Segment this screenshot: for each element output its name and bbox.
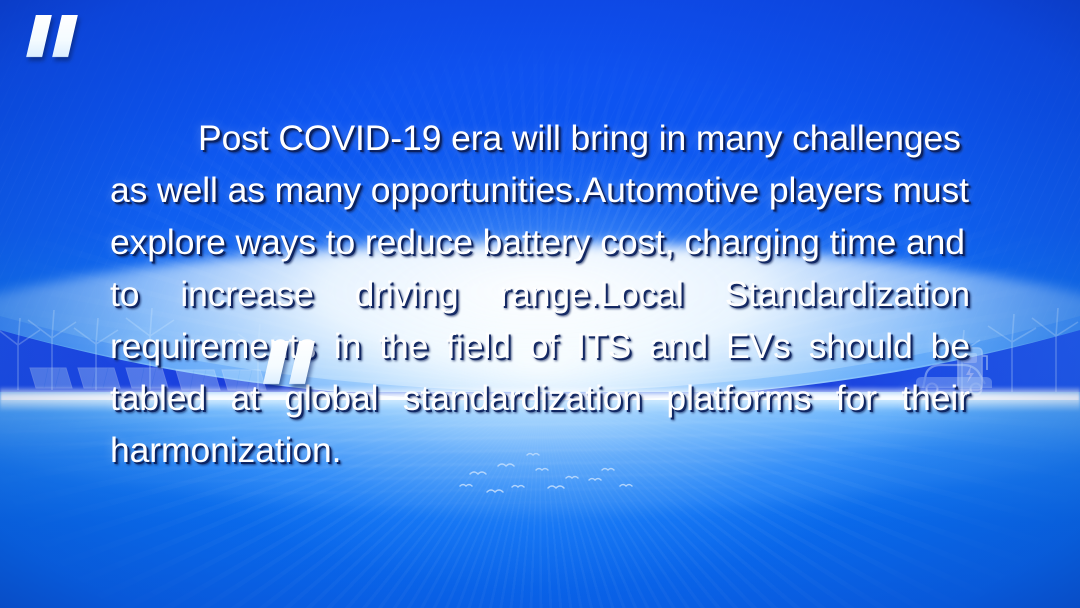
quote-line-1: Post COVID-19 era will bring in many cha… (110, 112, 970, 164)
quote-line-4: toincreasedrivingrange.LocalStandardizat… (110, 268, 970, 320)
quote-word: in (334, 320, 361, 372)
quote-line-7: harmonization. (110, 424, 970, 476)
quote-word: their (901, 372, 970, 424)
quote-close-mark-icon (268, 341, 310, 389)
quote-word: field (446, 320, 511, 372)
quote-word: for (836, 372, 877, 424)
quote-open-mark-icon (31, 15, 73, 62)
quote-word: and (649, 320, 708, 372)
quote-line-3: explore ways to reduce battery cost, cha… (110, 216, 970, 268)
quote-word: at (230, 372, 259, 424)
quote-word: driving (355, 268, 459, 320)
quote-slide: Post COVID-19 era will bring in many cha… (0, 0, 1080, 608)
quote-text-block: Post COVID-19 era will bring in many cha… (110, 112, 970, 476)
quote-line-6: tabledatglobalstandardizationplatformsfo… (110, 372, 970, 424)
quote-word: should (809, 320, 913, 372)
quote-word: range.Local (499, 268, 683, 320)
quote-word: to (110, 268, 139, 320)
quote-word: tabled (110, 372, 206, 424)
quote-word: be (931, 320, 970, 372)
quote-line-2: as well as many opportunities.Automotive… (110, 164, 970, 216)
quote-word: increase (180, 268, 313, 320)
quote-word: EVs (726, 320, 791, 372)
quote-word: standardization (403, 372, 642, 424)
quote-word: the (379, 320, 428, 372)
quote-word: Standardization (725, 268, 970, 320)
quote-word: platforms (666, 372, 811, 424)
quote-line-5: requirementsinthefieldofITSandEVsshouldb… (110, 320, 970, 372)
quote-word: of (529, 320, 558, 372)
quote-word: ITS (576, 320, 631, 372)
